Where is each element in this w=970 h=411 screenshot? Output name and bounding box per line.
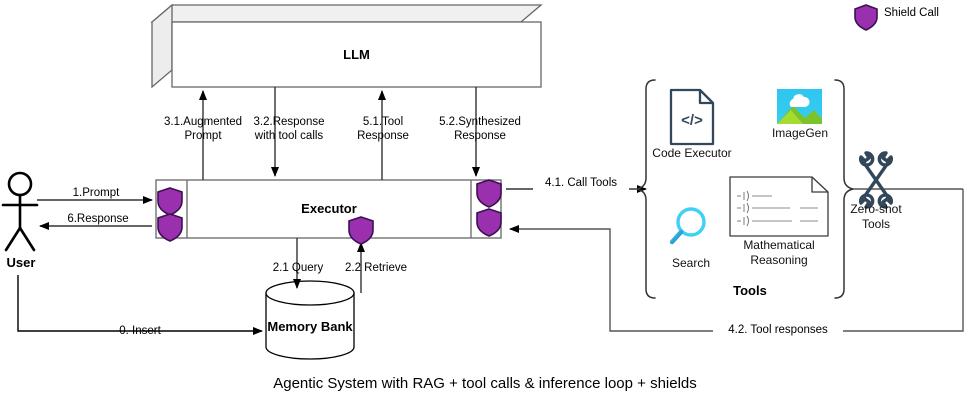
tools-group-title: Tools [710,283,790,298]
legend-label: Shield Call [884,7,939,19]
edge-label-tool-response: 5.1.Tool Response [337,115,429,143]
user-label: User [0,255,42,270]
magnifier-icon [672,209,704,242]
edge-label-prompt: 1.Prompt [48,186,144,200]
edge-label-insert: 0. Insert [72,324,208,338]
llm-node [152,5,541,87]
formula-document-icon [730,177,828,236]
code-document-icon: </> [671,90,713,144]
crossed-wrenches-icon [861,153,892,207]
edge-label-retrieve: 2.2 Retrieve [330,261,422,275]
tool-label-search: Search [657,256,725,271]
image-icon [777,89,822,124]
user-icon [3,173,37,250]
memory-bank-label: Memory Bank [246,319,374,334]
tool-label-mathematical-reasoning: Mathematical Reasoning [720,238,838,267]
edge-label-query: 2.1 Query [254,261,342,275]
svg-text:</>: </> [681,112,703,129]
edge-label-call-tools: 4.1. Call Tools [533,176,629,190]
edge-label-response: 6.Response [48,212,148,226]
tool-label-imagegen: ImageGen [757,126,843,141]
diagram-canvas: </> [0,0,970,411]
executor-label: Executor [187,201,471,216]
edge-label-tool-responses: 4.2. Tool responses [713,323,843,337]
edge-insert [18,275,262,331]
shield-icon-legend [855,5,877,30]
tool-label-code-executor: Code Executor [643,146,741,161]
llm-label: LLM [172,47,541,62]
edge-label-response-tool-calls: 3.2.Response with tool calls [228,115,350,143]
edge-label-synthesized-response: 5.2.Synthesized Response [420,115,540,143]
tool-label-zero-shot-tools: Zero-shot Tools [840,202,912,231]
diagram-caption: Agentic System with RAG + tool calls & i… [0,375,970,392]
shield-icon-executor-memory [349,217,373,244]
